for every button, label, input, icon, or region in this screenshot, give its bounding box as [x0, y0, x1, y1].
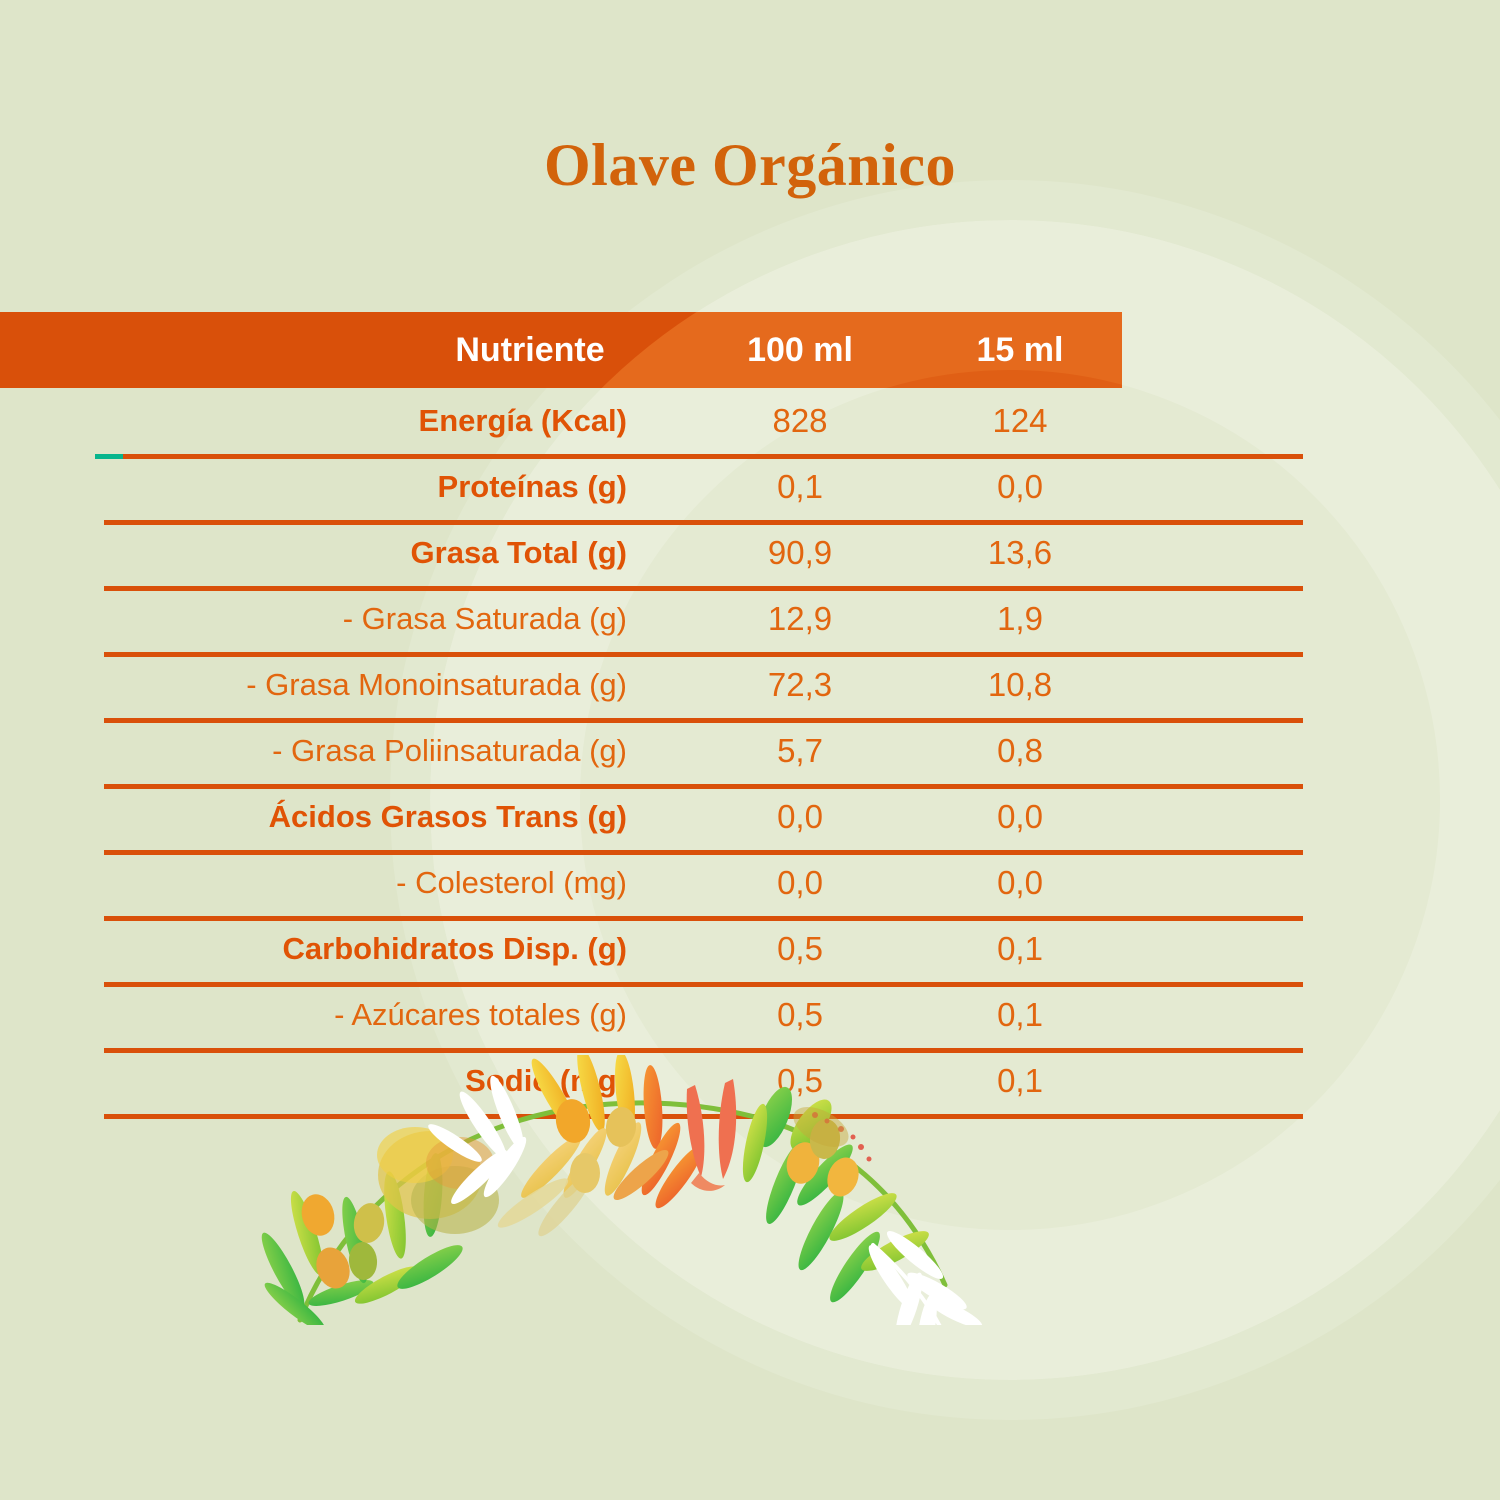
row-value-100ml: 0,0	[700, 850, 900, 916]
row-label: - Colesterol (mg)	[0, 850, 627, 916]
row-value-100ml: 5,7	[700, 718, 900, 784]
table-row: Grasa Total (g)90,913,6	[0, 520, 1500, 586]
column-header-15ml: 15 ml	[920, 312, 1120, 388]
row-separator	[95, 454, 1303, 459]
row-label: Carbohidratos Disp. (g)	[0, 916, 627, 982]
poster-canvas: Olave Orgánico Nutriente 100 ml 15 ml En…	[0, 0, 1500, 1500]
row-value-15ml: 1,9	[920, 586, 1120, 652]
row-value-100ml: 828	[700, 388, 900, 454]
row-value-100ml: 0,5	[700, 982, 900, 1048]
row-separator	[104, 1048, 1303, 1053]
table-row: Energía (Kcal)828124	[0, 388, 1500, 454]
table-row: - Colesterol (mg)0,00,0	[0, 850, 1500, 916]
column-header-100ml: 100 ml	[700, 312, 900, 388]
row-value-15ml: 0,1	[920, 982, 1120, 1048]
row-value-15ml: 0,1	[920, 1048, 1120, 1114]
row-value-100ml: 72,3	[700, 652, 900, 718]
row-label: - Grasa Poliinsaturada (g)	[0, 718, 627, 784]
row-label: - Grasa Saturada (g)	[0, 586, 627, 652]
table-row: - Azúcares totales (g)0,50,1	[0, 982, 1500, 1048]
row-label: Grasa Total (g)	[0, 520, 627, 586]
row-label: - Grasa Monoinsaturada (g)	[0, 652, 627, 718]
table-row: Sodio (mg)0,50,1	[0, 1048, 1500, 1114]
row-label: Ácidos Grasos Trans (g)	[0, 784, 627, 850]
row-label: Sodio (mg)	[0, 1048, 627, 1114]
row-separator	[104, 784, 1303, 789]
row-value-15ml: 0,0	[920, 850, 1120, 916]
row-separator	[104, 586, 1303, 591]
row-value-15ml: 0,8	[920, 718, 1120, 784]
row-label: Energía (Kcal)	[0, 388, 627, 454]
table-row: - Grasa Saturada (g)12,91,9	[0, 586, 1500, 652]
table-header-bar: Nutriente 100 ml 15 ml	[0, 312, 1122, 388]
row-separator	[104, 1114, 1303, 1119]
row-value-15ml: 0,0	[920, 784, 1120, 850]
row-value-100ml: 0,0	[700, 784, 900, 850]
row-label: Proteínas (g)	[0, 454, 627, 520]
row-value-15ml: 0,0	[920, 454, 1120, 520]
row-value-100ml: 90,9	[700, 520, 900, 586]
teal-marker	[95, 454, 123, 459]
table-row: - Grasa Poliinsaturada (g)5,70,8	[0, 718, 1500, 784]
page-title: Olave Orgánico	[0, 131, 1500, 200]
row-value-100ml: 0,5	[700, 1048, 900, 1114]
row-separator	[104, 718, 1303, 723]
table-row: - Grasa Monoinsaturada (g)72,310,8	[0, 652, 1500, 718]
nutrition-table: Nutriente 100 ml 15 ml Energía (Kcal)828…	[0, 312, 1500, 1122]
row-value-15ml: 0,1	[920, 916, 1120, 982]
row-separator	[104, 652, 1303, 657]
row-value-15ml: 10,8	[920, 652, 1120, 718]
row-value-15ml: 13,6	[920, 520, 1120, 586]
column-header-nutrient: Nutriente	[380, 312, 680, 388]
row-value-100ml: 0,5	[700, 916, 900, 982]
row-separator	[104, 520, 1303, 525]
row-label: - Azúcares totales (g)	[0, 982, 627, 1048]
row-value-100ml: 0,1	[700, 454, 900, 520]
row-value-15ml: 124	[920, 388, 1120, 454]
row-separator	[104, 916, 1303, 921]
table-row: Ácidos Grasos Trans (g)0,00,0	[0, 784, 1500, 850]
table-row: Proteínas (g)0,10,0	[0, 454, 1500, 520]
table-row: Carbohidratos Disp. (g)0,50,1	[0, 916, 1500, 982]
table-body: Energía (Kcal)828124Proteínas (g)0,10,0G…	[0, 388, 1500, 1122]
row-separator	[104, 850, 1303, 855]
row-separator	[104, 982, 1303, 987]
row-value-100ml: 12,9	[700, 586, 900, 652]
